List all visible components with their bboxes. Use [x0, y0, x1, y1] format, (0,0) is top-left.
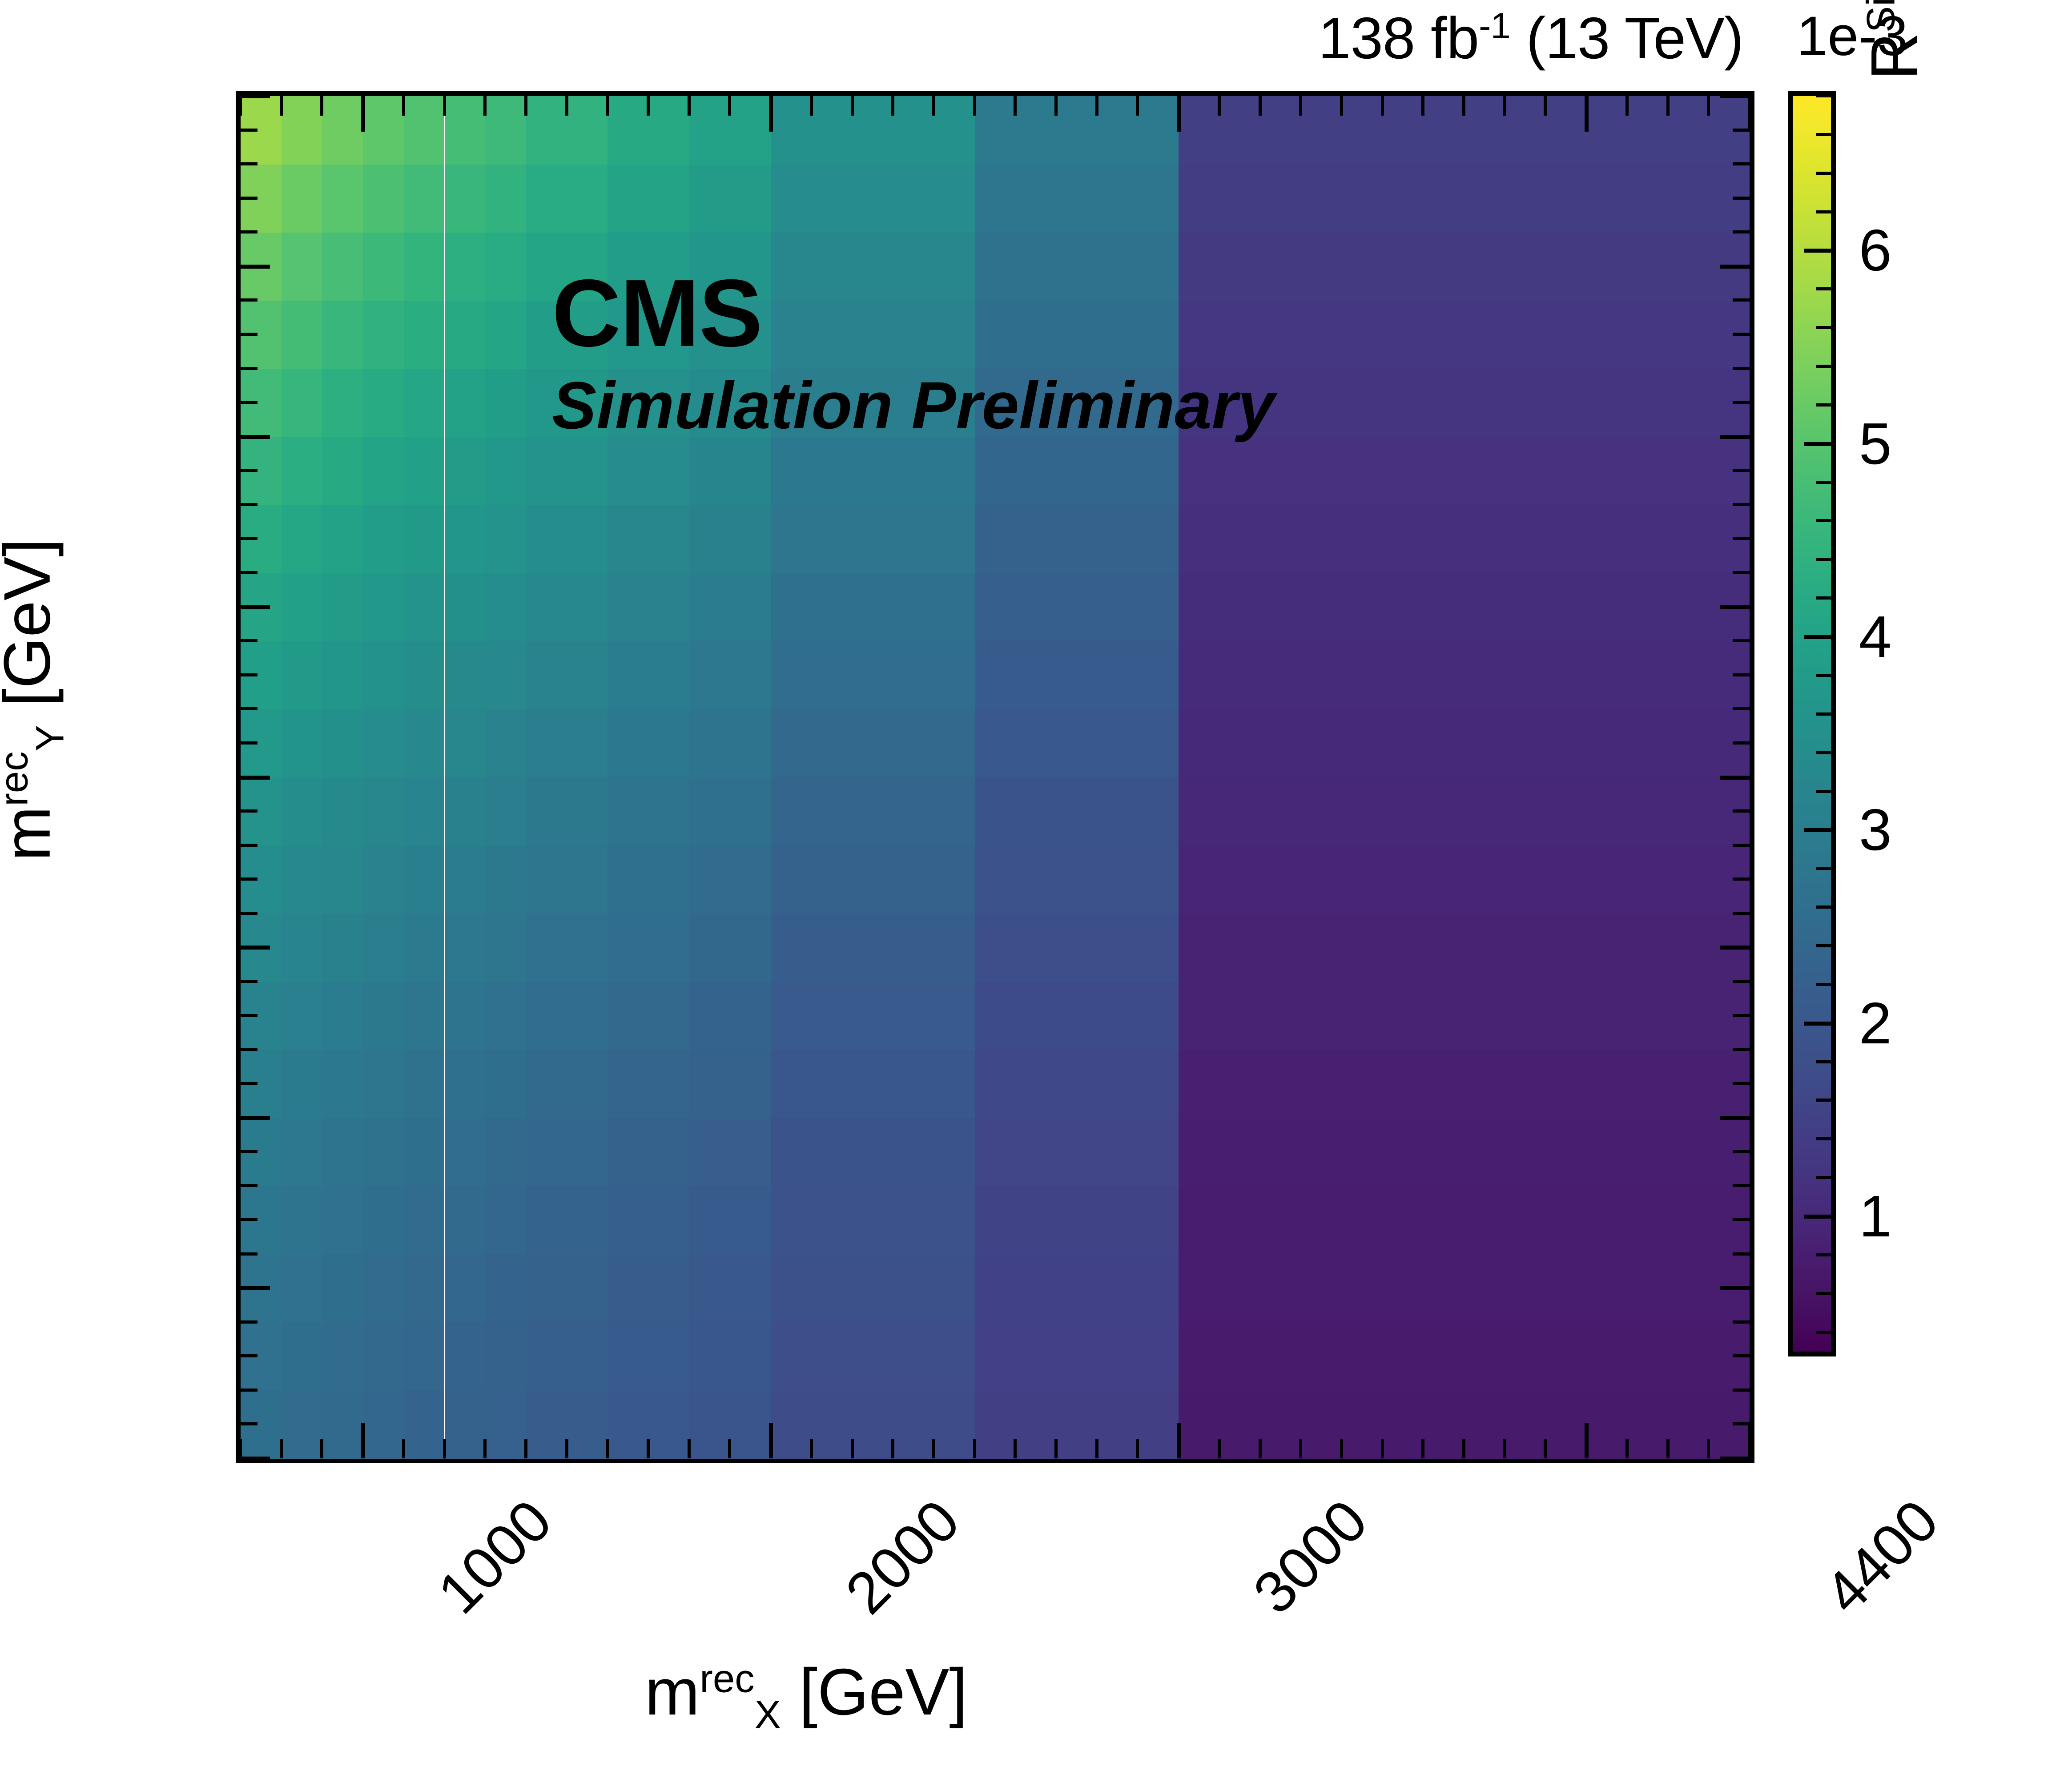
colorbar-minor-tick [1816, 1060, 1831, 1063]
heatmap-cell [322, 1322, 363, 1391]
colorbar-minor-tick [1816, 751, 1831, 754]
x-axis-title-sub: X [755, 1693, 781, 1737]
x-axis-minor-tick [1218, 96, 1221, 116]
heatmap-cell [445, 232, 486, 301]
y-axis-minor-tick [241, 537, 257, 540]
heatmap-cell [526, 164, 608, 233]
y-axis-minor-tick [241, 197, 257, 200]
x-axis-minor-tick [524, 1439, 527, 1458]
y-axis-minor-tick [1733, 503, 1750, 506]
y-axis-major-tick [241, 776, 270, 780]
heatmap-cell [363, 777, 404, 846]
x-axis-minor-tick [1666, 96, 1670, 116]
heatmap-cell [363, 982, 404, 1050]
heatmap-cell [363, 505, 404, 573]
heatmap-cell [485, 709, 526, 777]
colorbar-minor-tick [1816, 287, 1831, 290]
colorbar-minor-tick [1816, 519, 1831, 522]
x-axis-minor-tick [891, 96, 894, 116]
heatmap-cell [485, 437, 526, 505]
x-axis-minor-tick [1503, 96, 1506, 116]
x-axis-title-unit: [GeV] [781, 1655, 968, 1729]
x-axis-minor-tick [1625, 1439, 1629, 1458]
y-axis-major-tick [1720, 1457, 1750, 1461]
y-axis-minor-tick [241, 1048, 257, 1051]
x-axis-minor-tick [1666, 1439, 1670, 1458]
x-axis-minor-tick [1462, 96, 1465, 116]
x-axis-minor-tick [1625, 96, 1629, 116]
y-axis-minor-tick [241, 129, 257, 132]
heatmap-column [404, 96, 445, 1458]
x-axis-minor-tick [443, 96, 446, 116]
y-axis-minor-tick [241, 980, 257, 983]
y-axis-minor-tick [1733, 571, 1750, 574]
y-axis-minor-tick [241, 571, 257, 574]
colorbar-minor-tick [1816, 133, 1831, 136]
y-axis-minor-tick [241, 1320, 257, 1324]
colorbar-tick-label: 5 [1859, 415, 1891, 473]
heatmap-cell [975, 232, 1179, 301]
colorbar-minor-tick [1816, 906, 1831, 909]
y-axis-minor-tick [241, 877, 257, 881]
colorbar-minor-tick [1816, 365, 1831, 368]
heatmap-cell [771, 96, 975, 165]
x-axis-minor-tick [1095, 96, 1098, 116]
heatmap-cell [282, 437, 322, 505]
y-axis-title: mrecY [GeV] [0, 166, 72, 1233]
heatmap-cell [1179, 1322, 1750, 1391]
x-axis-minor-tick [973, 96, 976, 116]
heatmap-cell [282, 232, 322, 301]
heatmap-cell [282, 982, 322, 1050]
heatmap-cell [404, 982, 445, 1050]
heatmap-cell [1179, 232, 1750, 301]
y-axis-minor-tick [241, 1150, 257, 1153]
y-axis-major-tick [241, 1116, 270, 1120]
heatmap-cell [485, 1254, 526, 1323]
heatmap-cell [282, 777, 322, 846]
y-axis-minor-tick [241, 503, 257, 506]
heatmap-cell [1179, 982, 1750, 1050]
heatmap-cell [608, 845, 689, 914]
heatmap-column [1179, 96, 1750, 1458]
y-axis-minor-tick [1733, 877, 1750, 881]
y-axis-minor-tick [241, 367, 257, 370]
heatmap-cell [975, 300, 1179, 369]
heatmap-cell [1179, 1186, 1750, 1254]
x-axis-minor-tick [1259, 96, 1262, 116]
y-axis-major-tick [1720, 605, 1750, 609]
heatmap-cell [445, 1390, 486, 1459]
heatmap-cell [608, 1254, 689, 1323]
x-axis-minor-tick [1218, 1439, 1221, 1458]
heatmap-cell [445, 96, 486, 165]
heatmap-cell [404, 164, 445, 233]
x-axis-minor-tick [1707, 96, 1710, 116]
heatmap-cell [363, 1186, 404, 1254]
colorbar-major-tick [1804, 442, 1831, 446]
y-axis-minor-tick [1733, 333, 1750, 336]
y-axis-major-tick [241, 94, 270, 98]
heatmap-cell [771, 1390, 975, 1459]
heatmap-cell [445, 641, 486, 709]
heatmap-cell [445, 1050, 486, 1118]
y-axis-major-tick [1720, 94, 1750, 98]
y-axis-minor-tick [241, 912, 257, 915]
heatmap-cell [975, 1118, 1179, 1186]
heatmap-cell [282, 96, 322, 165]
colorbar-tick-label: 4 [1859, 608, 1891, 666]
heatmap-cell [771, 300, 975, 369]
heatmap-cell [404, 232, 445, 301]
x-axis-minor-tick [973, 1439, 976, 1458]
y-axis-minor-tick [241, 401, 257, 404]
heatmap-cell [404, 300, 445, 369]
heatmap-cell [485, 300, 526, 369]
heatmap-cell [689, 914, 771, 982]
heatmap-cell [445, 369, 486, 437]
colorbar-tick-label: 6 [1859, 221, 1891, 280]
heatmap-cell [975, 914, 1179, 982]
colorbar-minor-tick [1816, 790, 1831, 793]
y-axis-minor-tick [241, 1354, 257, 1357]
heatmap-cell [526, 1050, 608, 1118]
y-axis-minor-tick [1733, 1422, 1750, 1425]
x-axis-title-sup: rec [700, 1657, 754, 1701]
heatmap-cell [771, 1186, 975, 1254]
heatmap-cell [363, 914, 404, 982]
y-axis-minor-tick [1733, 129, 1750, 132]
x-axis-minor-tick [1014, 96, 1017, 116]
y-axis-minor-tick [241, 298, 257, 302]
x-axis-minor-tick [932, 1439, 935, 1458]
heatmap-cell [445, 573, 486, 641]
y-axis-minor-tick [1733, 537, 1750, 540]
cms-sublabel: Simulation Preliminary [552, 372, 1275, 439]
y-axis-minor-tick [241, 809, 257, 813]
heatmap-cell [526, 777, 608, 846]
heatmap-cell [608, 573, 689, 641]
y-axis-minor-tick [1733, 162, 1750, 165]
heatmap-cell [689, 709, 771, 777]
heatmap-cell [526, 573, 608, 641]
colorbar-minor-tick [1816, 674, 1831, 677]
heatmap-cell [771, 505, 975, 573]
heatmap-cell [1179, 437, 1750, 505]
y-axis-major-tick [1720, 1116, 1750, 1120]
heatmap-cell [485, 914, 526, 982]
y-axis-minor-tick [1733, 1082, 1750, 1085]
heatmap-cell [282, 845, 322, 914]
y-axis-minor-tick [241, 333, 257, 336]
heatmap-cell [689, 164, 771, 233]
heatmap-cell [771, 1254, 975, 1323]
heatmap-cell [1179, 1254, 1750, 1323]
heatmap-cell [363, 845, 404, 914]
heatmap-cell [445, 1118, 486, 1186]
x-axis-minor-tick [1544, 96, 1547, 116]
heatmap-cell [975, 641, 1179, 709]
heatmap-cell [526, 1186, 608, 1254]
heatmap-cell [363, 641, 404, 709]
y-axis-minor-tick [1733, 1048, 1750, 1051]
y-axis-minor-tick [1733, 1218, 1750, 1221]
heatmap-cell [526, 982, 608, 1050]
y-axis-minor-tick [1733, 1354, 1750, 1357]
heatmap-cell [485, 777, 526, 846]
x-axis-minor-tick [1054, 96, 1058, 116]
colorbar-minor-tick [1816, 94, 1831, 97]
y-axis-minor-tick [241, 1422, 257, 1425]
y-axis-minor-tick [1733, 1252, 1750, 1256]
x-axis-major-tick [769, 1423, 773, 1458]
heatmap-column [445, 96, 486, 1458]
heatmap-cell [485, 1390, 526, 1459]
y-axis-major-tick [241, 265, 270, 269]
heatmap-cell [485, 96, 526, 165]
y-axis-minor-tick [1733, 1184, 1750, 1187]
x-axis-major-tick [361, 1423, 365, 1458]
y-axis-minor-tick [1733, 367, 1750, 370]
heatmap-cell [689, 437, 771, 505]
heatmap-cell [608, 505, 689, 573]
heatmap-cell [485, 1186, 526, 1254]
heatmap-cell [322, 437, 363, 505]
heatmap-cell [485, 505, 526, 573]
y-axis-minor-tick [241, 1014, 257, 1017]
heatmap-cell [485, 1050, 526, 1118]
x-axis-minor-tick [280, 96, 283, 116]
heatmap-cell [526, 914, 608, 982]
heatmap-cell [282, 1322, 322, 1391]
heatmap-column [485, 96, 526, 1458]
colorbar-major-tick [1804, 1215, 1831, 1219]
x-axis-minor-tick [1340, 1439, 1343, 1458]
heatmap-cell [608, 914, 689, 982]
heatmap-cell [526, 1118, 608, 1186]
colorbar-minor-tick [1816, 1137, 1831, 1140]
x-axis-minor-tick [851, 96, 854, 116]
y-axis-title-sup: rec [0, 751, 36, 806]
heatmap-cell [363, 96, 404, 165]
colorbar-minor-tick [1816, 1099, 1831, 1102]
heatmap-cell [975, 1390, 1179, 1459]
heatmap-column [975, 96, 1179, 1458]
x-axis-minor-tick [1136, 96, 1139, 116]
heatmap-cell [404, 505, 445, 573]
heatmap-cell [771, 845, 975, 914]
heatmap-cell [485, 573, 526, 641]
x-axis-minor-tick [1136, 1439, 1139, 1458]
x-axis-minor-tick [1707, 1439, 1710, 1458]
lumi-value: 138 fb [1318, 5, 1479, 71]
heatmap-cell [1179, 1050, 1750, 1118]
y-axis-minor-tick [241, 162, 257, 165]
heatmap-cell [404, 573, 445, 641]
heatmap-cell [485, 1322, 526, 1391]
heatmap-cell [445, 164, 486, 233]
heatmap-cell [322, 982, 363, 1050]
heatmap-cell [322, 573, 363, 641]
heatmap-cell [975, 982, 1179, 1050]
heatmap-cell [404, 914, 445, 982]
heatmap-cell [608, 164, 689, 233]
heatmap-cell [282, 164, 322, 233]
heatmap-cell [975, 573, 1179, 641]
colorbar-minor-tick [1816, 558, 1831, 561]
heatmap-cell [445, 982, 486, 1050]
heatmap-cell [689, 1254, 771, 1323]
x-axis-minor-tick [810, 96, 813, 116]
heatmap-cell [404, 1050, 445, 1118]
heatmap-cell [322, 1254, 363, 1323]
y-axis-minor-tick [1733, 707, 1750, 710]
colorbar-minor-tick [1816, 172, 1831, 175]
x-axis-minor-tick [524, 96, 527, 116]
heatmap-cell [608, 641, 689, 709]
lumi-exponent: -1 [1479, 6, 1510, 46]
heatmap-cell [1179, 845, 1750, 914]
x-axis-minor-tick [1095, 1439, 1098, 1458]
colorbar-tick-label: 2 [1859, 994, 1891, 1053]
heatmap-cell [282, 505, 322, 573]
x-axis-tick-label: 4400 [1815, 1490, 1948, 1624]
heatmap-cell [975, 505, 1179, 573]
colorbar-minor-tick [1816, 210, 1831, 213]
y-axis-minor-tick [1733, 673, 1750, 676]
heatmap-cell [363, 573, 404, 641]
heatmap-cell [689, 1186, 771, 1254]
colorbar-minor-tick [1816, 1331, 1831, 1334]
heatmap-cell [282, 914, 322, 982]
heatmap-cell [404, 1118, 445, 1186]
y-axis-minor-tick [1733, 230, 1750, 233]
heatmap-cell [485, 232, 526, 301]
heatmap-cell [322, 777, 363, 846]
y-axis-major-tick [241, 1457, 270, 1461]
heatmap-cell [771, 164, 975, 233]
x-axis-major-tick [1585, 1423, 1589, 1458]
heatmap-cell [1179, 573, 1750, 641]
heatmap-cell [282, 369, 322, 437]
heatmap-cell [608, 709, 689, 777]
x-axis-tick-label: 2000 [836, 1490, 970, 1624]
x-axis-minor-tick [728, 1439, 731, 1458]
heatmap-cell [363, 232, 404, 301]
heatmap-cell [363, 164, 404, 233]
heatmap-cell [404, 369, 445, 437]
heatmap-cell [322, 1390, 363, 1459]
x-axis-major-tick [1177, 96, 1181, 132]
x-axis-minor-tick [402, 1439, 405, 1458]
heatmap-cell [282, 1186, 322, 1254]
x-axis-minor-tick [1340, 96, 1343, 116]
y-axis-minor-tick [241, 469, 257, 472]
heatmap-cell [1179, 1118, 1750, 1186]
heatmap-cell [771, 1118, 975, 1186]
heatmap-cell [1179, 777, 1750, 846]
colorbar-minor-tick [1816, 596, 1831, 600]
heatmap-cell [322, 845, 363, 914]
colorbar-minor-tick [1816, 712, 1831, 716]
heatmap-cell [282, 709, 322, 777]
heatmap-cell [608, 982, 689, 1050]
heatmap-cell [404, 437, 445, 505]
heatmap-cell [404, 1390, 445, 1459]
x-axis-minor-tick [647, 96, 650, 116]
colorbar-major-tick [1804, 1022, 1831, 1026]
y-axis-title-sub: Y [28, 725, 72, 751]
heatmap-cell [322, 96, 363, 165]
heatmap-cell [771, 1050, 975, 1118]
heatmap-cell [322, 1186, 363, 1254]
y-axis-minor-tick [1733, 1389, 1750, 1392]
x-axis-minor-tick [443, 1439, 446, 1458]
heatmap-cell [404, 96, 445, 165]
heatmap-cell [322, 232, 363, 301]
x-axis-minor-tick [565, 1439, 568, 1458]
heatmap-cell [404, 1254, 445, 1323]
colorbar-minor-tick [1816, 481, 1831, 484]
x-axis-minor-tick [1381, 1439, 1384, 1458]
heatmap-cell [1179, 164, 1750, 233]
heatmap-cell [485, 845, 526, 914]
x-axis-major-tick [1177, 1423, 1181, 1458]
y-axis-title-unit: [GeV] [0, 539, 64, 725]
y-axis-minor-tick [241, 1082, 257, 1085]
y-axis-minor-tick [241, 673, 257, 676]
heatmap-cell [526, 709, 608, 777]
heatmap-cell [975, 777, 1179, 846]
y-axis-minor-tick [1733, 469, 1750, 472]
y-axis-minor-tick [1733, 912, 1750, 915]
heatmap-cell [445, 845, 486, 914]
y-axis-minor-tick [241, 707, 257, 710]
heatmap-cell [363, 1254, 404, 1323]
heatmap-cell [404, 709, 445, 777]
energy-value: (13 TeV) [1510, 5, 1743, 71]
heatmap-cell [282, 1254, 322, 1323]
heatmap-cell [771, 232, 975, 301]
y-axis-major-tick [1720, 435, 1750, 439]
heatmap-cell [771, 573, 975, 641]
x-axis-minor-tick [239, 1439, 242, 1458]
heatmap-cell [608, 1322, 689, 1391]
heatmap-cell [363, 1390, 404, 1459]
heatmap-cell [363, 1050, 404, 1118]
y-axis-minor-tick [241, 1389, 257, 1392]
colorbar[interactable] [1788, 91, 1836, 1356]
heatmap-cell [445, 1322, 486, 1391]
y-axis-minor-tick [1733, 741, 1750, 745]
x-axis-minor-tick [606, 1439, 609, 1458]
heatmap-cell [445, 1254, 486, 1323]
colorbar-major-tick [1804, 828, 1831, 832]
heatmap-cell [363, 437, 404, 505]
heatmap-cell [771, 777, 975, 846]
x-axis-title-base: m [645, 1655, 700, 1729]
heatmap-cell [1179, 300, 1750, 369]
y-axis-minor-tick [1733, 980, 1750, 983]
heatmap-cell [282, 300, 322, 369]
x-axis-minor-tick [320, 1439, 323, 1458]
x-axis-major-tick [1748, 96, 1752, 132]
heatmap-cell [445, 300, 486, 369]
heatmap-cell [526, 505, 608, 573]
heatmap-cell [282, 1390, 322, 1459]
heatmap-cell [445, 914, 486, 982]
heatmap-column [282, 96, 322, 1458]
